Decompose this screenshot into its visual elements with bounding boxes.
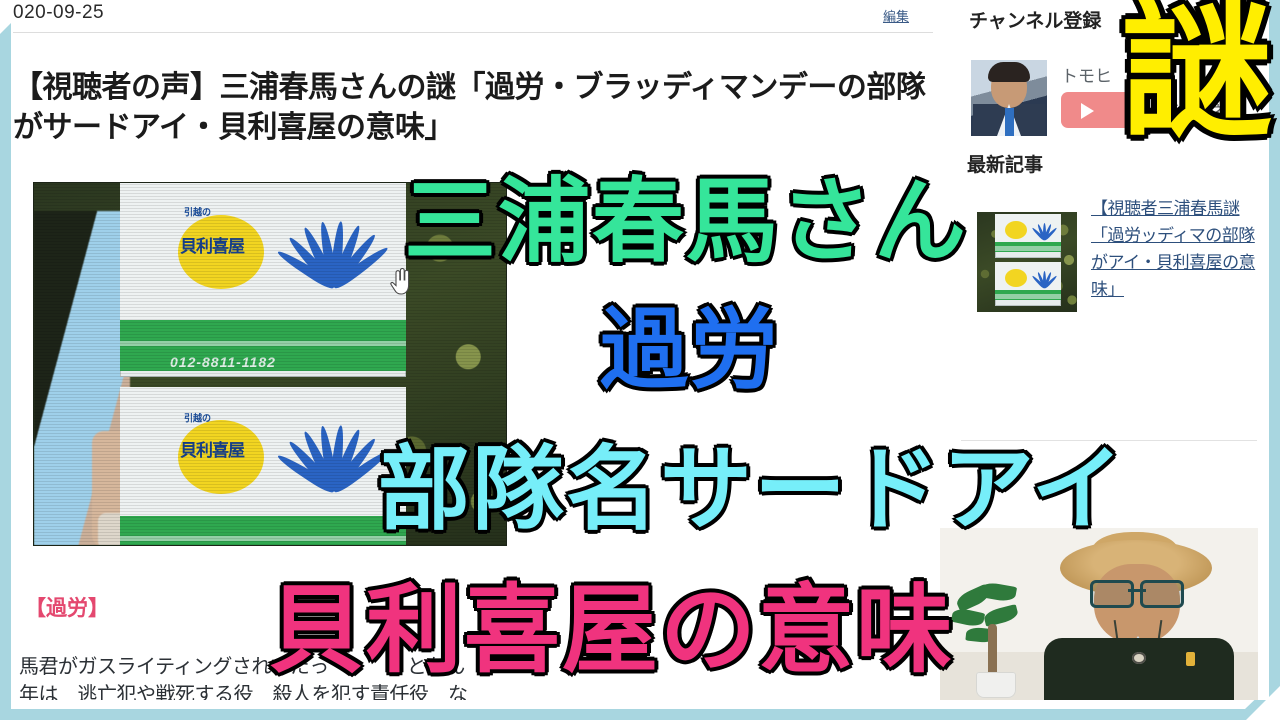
box-green-stripe — [120, 516, 406, 546]
shell-logo-icon — [286, 219, 372, 287]
moving-box-upper: 引越の 貝利喜屋 012-8811-1182 — [120, 182, 406, 377]
caption-line-1: 三浦春馬さん — [404, 176, 968, 268]
thumb-shell-logo-icon — [1031, 270, 1055, 288]
article-title: 【視聴者の声】三浦春馬さんの謎「過労・ブラッディマンデーの部隊がサードアイ・貝利… — [13, 68, 943, 148]
avatar-necktie — [1005, 108, 1014, 136]
post-meta-row: 020-09-25 編集 — [13, 2, 943, 30]
thumb-moving-box-lower — [995, 262, 1061, 306]
bolo-tie-icon — [1132, 652, 1146, 664]
lens-left — [1090, 580, 1134, 608]
plant-pot — [976, 672, 1016, 698]
thumb-moving-box-upper — [995, 214, 1061, 258]
thumbnail-stage: 020-09-25 編集 【視聴者の声】三浦春馬さんの謎「過労・ブラッディマンデ… — [0, 0, 1280, 720]
thumb-green-stripe — [995, 242, 1061, 252]
sidebar-latest-heading: 最新記事 — [967, 150, 1043, 177]
lens-right — [1140, 580, 1184, 608]
meta-divider — [13, 32, 933, 33]
channel-name: トモヒ — [1061, 62, 1112, 87]
avatar-hair — [988, 62, 1030, 82]
box-brand-main: 貝利喜屋 — [180, 232, 244, 257]
caption-line-4: 貝利喜屋の意味 — [268, 582, 954, 678]
edit-link[interactable]: 編集 — [883, 6, 909, 25]
channel-avatar — [971, 60, 1047, 136]
post-date: 020-09-25 — [13, 2, 104, 24]
shell-logo-icon — [286, 423, 372, 491]
presenter-vest — [1044, 638, 1234, 700]
box-brand-small: 引越の — [184, 204, 211, 218]
box-brand-main: 貝利喜屋 — [180, 436, 244, 461]
thumb-logo-circle — [1005, 269, 1027, 287]
latest-article-link[interactable]: 【視聴者三浦春馬謎「過労ッディマの部隊がアイ・貝利喜屋の意味」 — [1091, 196, 1257, 303]
eyeglasses-icon — [1090, 580, 1184, 602]
caption-line-2: 過労 — [600, 306, 780, 394]
latest-article-thumbnail[interactable] — [977, 212, 1077, 312]
thumb-shell-logo-icon — [1031, 222, 1055, 240]
section-heading-karou: 【過労】 — [25, 592, 109, 622]
box-brand-small: 引越の — [184, 410, 211, 424]
moving-box-lower: 引越の 貝利喜屋 012-8811-1182 — [120, 387, 406, 546]
caption-line-3: 部隊名サードアイ — [378, 444, 1125, 536]
box-phone-number: 012-8811-1182 — [170, 354, 276, 370]
potted-plant-icon — [950, 584, 1036, 700]
lapel-pin-icon — [1186, 652, 1195, 666]
presenter-webcam-inset — [940, 528, 1258, 700]
thumb-logo-circle — [1005, 221, 1027, 239]
play-triangle-icon — [1081, 103, 1094, 119]
caption-corner-nazo: 謎 — [1122, 0, 1274, 146]
sidebar-channel-heading: チャンネル登録 — [969, 6, 1101, 33]
thumb-green-stripe — [995, 290, 1061, 300]
